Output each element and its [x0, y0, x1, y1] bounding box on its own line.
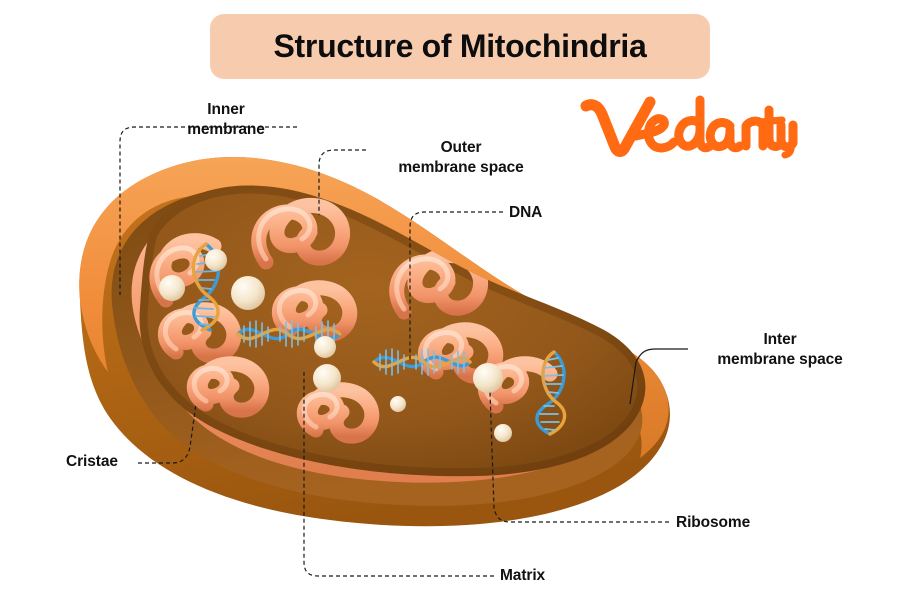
ribosome [231, 276, 265, 310]
label-outer-membrane-space: Outer membrane space [368, 138, 554, 178]
label-inter-membrane-space: Inter membrane space [690, 330, 870, 370]
label-inner-membrane: Inner membrane [162, 100, 290, 140]
ribosome [313, 364, 341, 392]
ribosome [159, 275, 185, 301]
label-cristae: Cristae [66, 452, 118, 472]
ribosome [390, 396, 406, 412]
ribosome [494, 424, 512, 442]
label-ribosome: Ribosome [676, 513, 750, 533]
diagram-canvas: Structure of Mitochindria [0, 0, 924, 602]
ribosome [314, 336, 336, 358]
ribosome [473, 363, 503, 393]
mitochondrion-illustration [0, 0, 924, 602]
ribosome [205, 249, 227, 271]
label-dna: DNA [509, 203, 542, 223]
label-matrix: Matrix [500, 566, 545, 586]
